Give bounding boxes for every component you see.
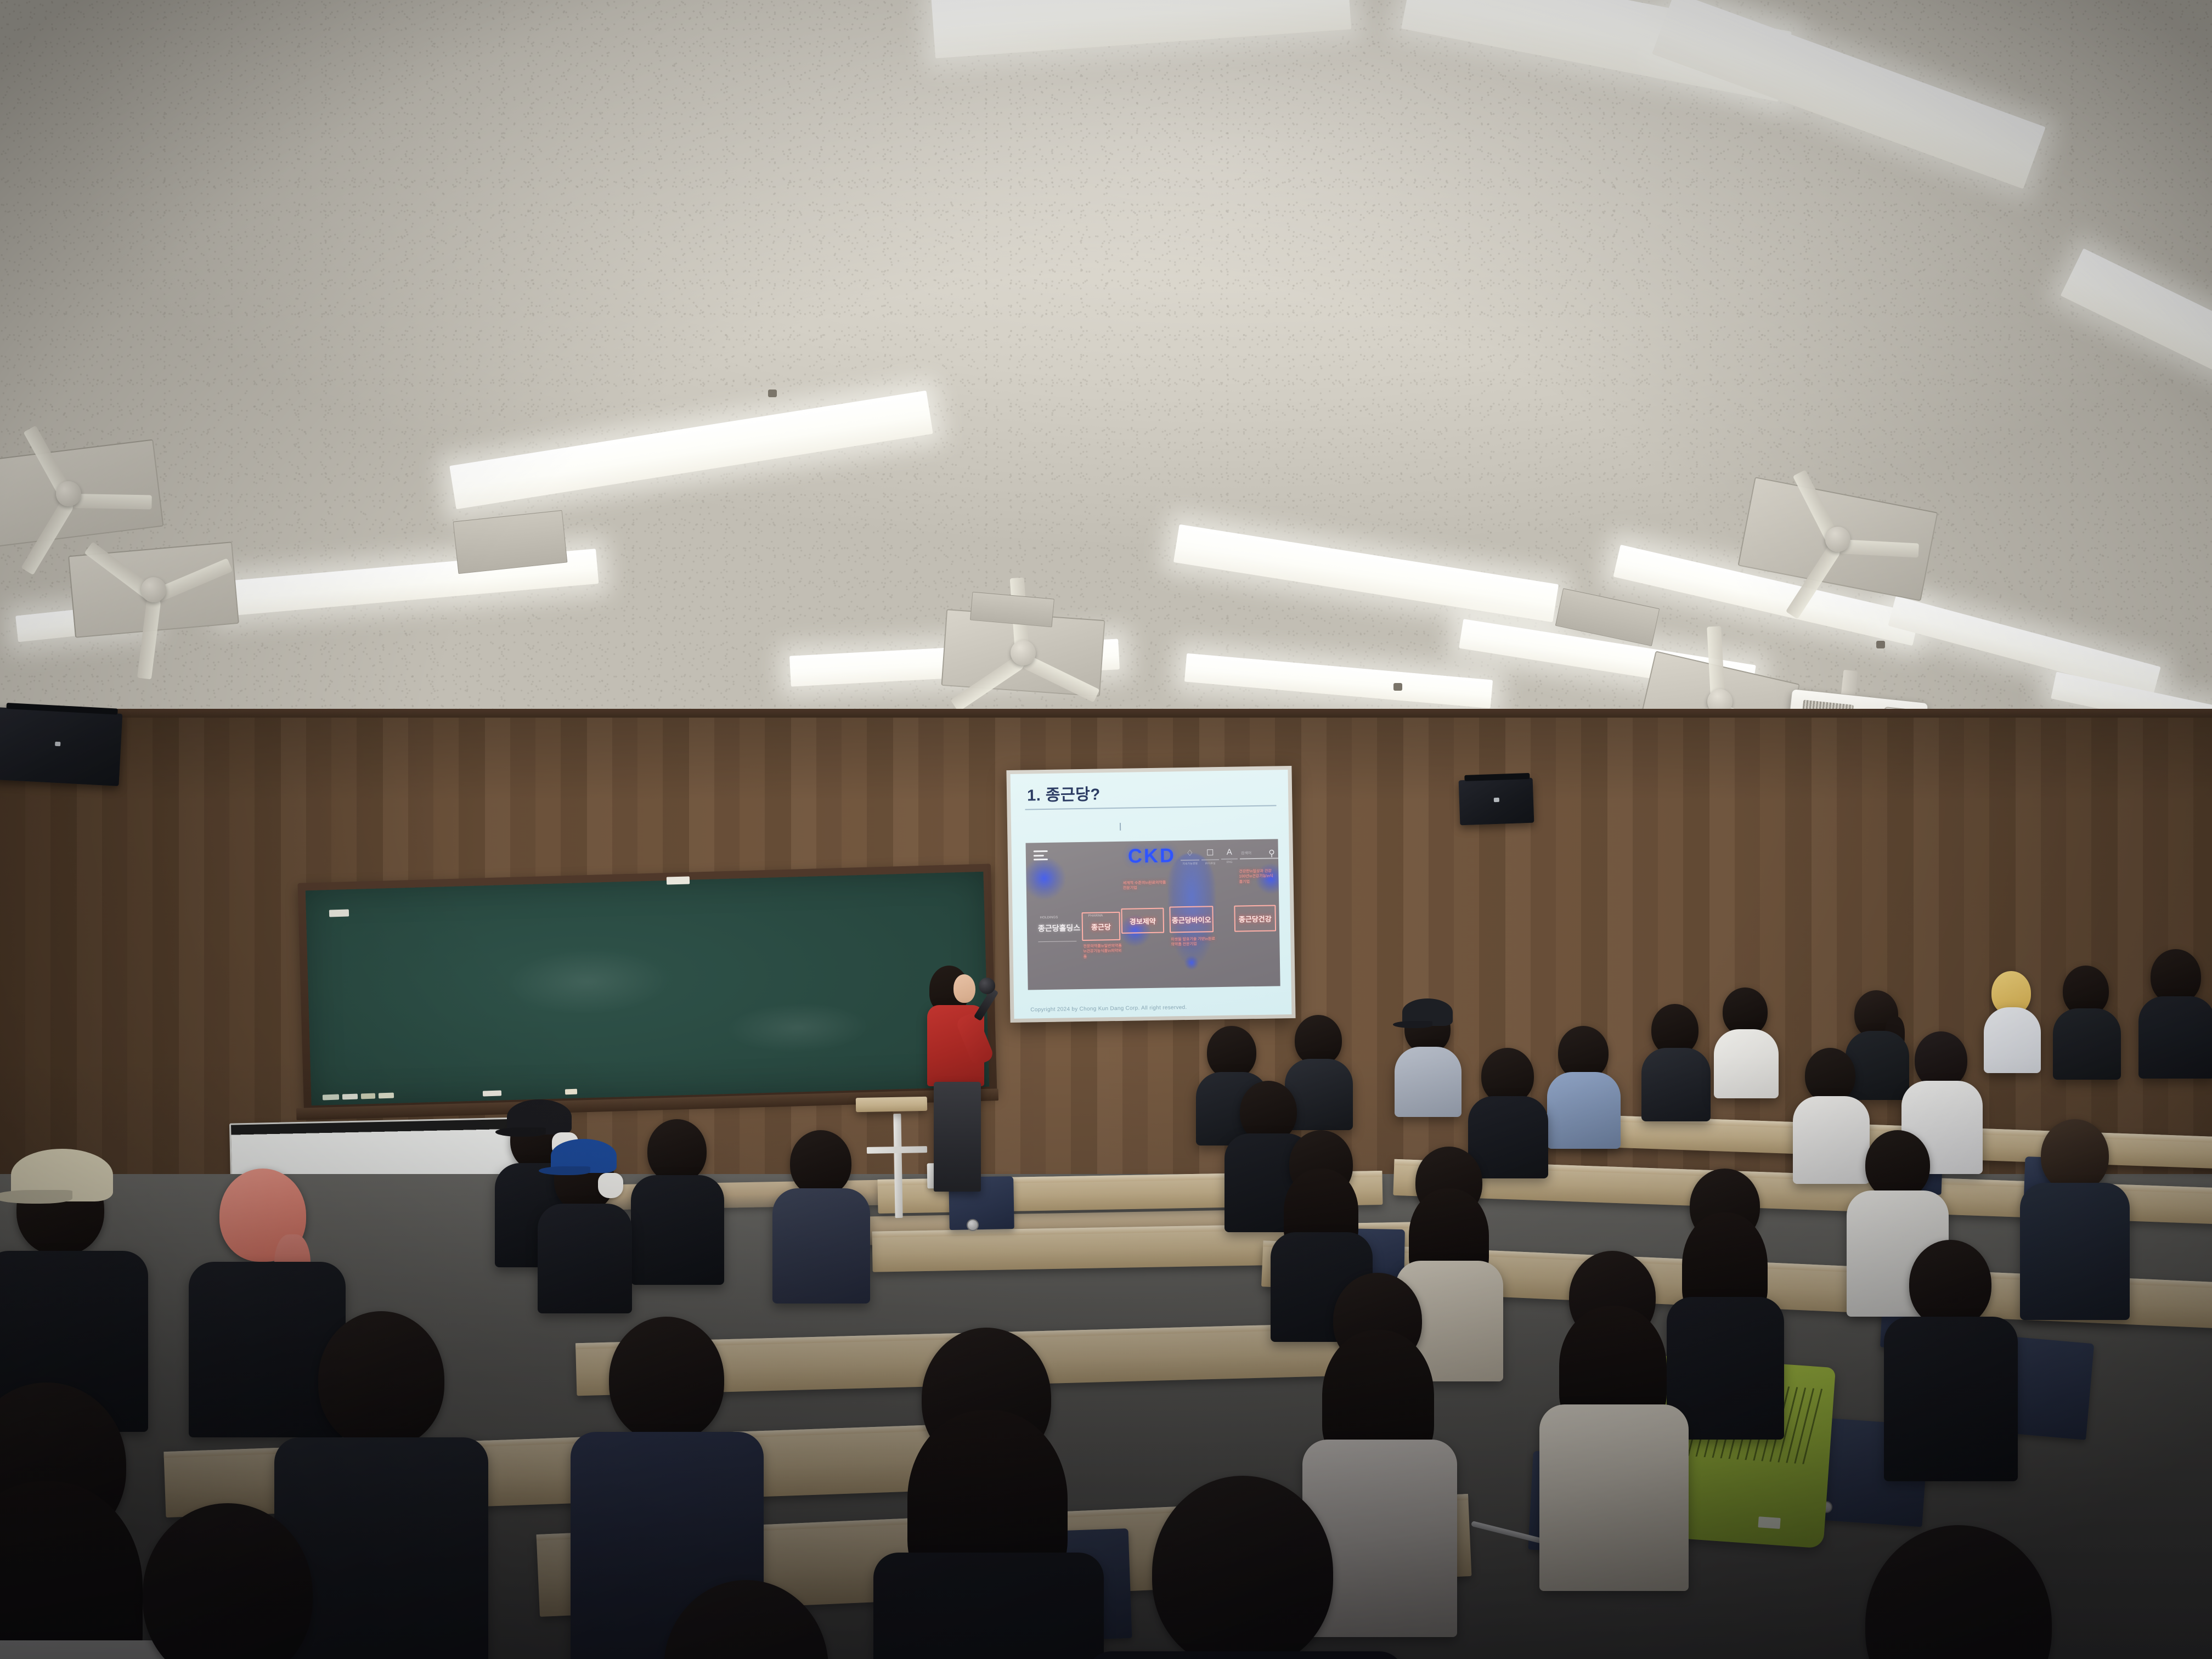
head [790, 1130, 851, 1196]
wall-top-trim [0, 709, 2212, 718]
brand-en-label: HOLDINGS [1040, 916, 1058, 920]
torso [873, 1553, 1104, 1659]
slide-tick-mark [1120, 823, 1121, 831]
hamburger-icon[interactable] [1034, 850, 1048, 860]
wall-speaker-left [0, 707, 122, 786]
glow-orb [1026, 856, 1066, 900]
speaker-indicator-icon [55, 741, 60, 746]
cap-brim [539, 1166, 590, 1175]
sprinkler-head [1876, 641, 1885, 648]
brand-name: 종근당건강 [1239, 913, 1272, 924]
brand-note: 미생물 발효기술 기반\n원료의약품 전문기업 [1171, 936, 1217, 947]
brand-name: 종근당 [1091, 921, 1111, 932]
head [2151, 949, 2201, 1004]
projection-screen: 1. 종근당? CKD ♢ 지속가능경영 ☐ [1006, 766, 1295, 1023]
torso [1395, 1047, 1462, 1117]
cap [551, 1139, 617, 1173]
slide: 1. 종근당? CKD ♢ 지속가능경영 ☐ [1011, 770, 1292, 1019]
chalkboard [306, 872, 989, 1105]
embedded-website-screenshot: CKD ♢ 지속가능경영 ☐ IR자료실 A ENG 검색어 ⚲ HOLDING… [1026, 839, 1280, 990]
brand-card-pharma[interactable]: 종근당 [1082, 912, 1121, 941]
chalk-piece [361, 1093, 375, 1099]
brand-underline [1038, 941, 1076, 942]
head [1481, 1048, 1534, 1104]
chalk-piece [342, 1094, 358, 1100]
cap-brim [1393, 1021, 1432, 1028]
torso [1846, 1031, 1909, 1100]
chalkboard-frame [297, 864, 997, 1113]
torso [0, 1640, 176, 1659]
cap-brim [495, 1127, 546, 1137]
chalk-piece [483, 1090, 501, 1096]
nav-item-label: ENG [1221, 861, 1238, 864]
sprinkler-head [1393, 683, 1402, 691]
sprinkler-head [768, 390, 777, 397]
wall-speaker-right [1459, 778, 1534, 826]
chair-label [1758, 1516, 1780, 1529]
head [1723, 988, 1768, 1036]
brand-name: 종근당바이오 [1172, 914, 1211, 925]
drop-icon: ♢ [1186, 849, 1194, 858]
side-table [856, 1097, 927, 1112]
head [1865, 1130, 1930, 1199]
presenter-skirt [934, 1082, 981, 1192]
torso [1468, 1096, 1548, 1178]
brand-name: 경보제약 [1130, 915, 1156, 926]
chalk-piece [323, 1094, 339, 1100]
torso [1984, 1007, 2041, 1073]
microphone-head [979, 978, 995, 994]
cap-brim [0, 1190, 72, 1204]
fan-blade [69, 494, 151, 510]
chalk-eraser [329, 910, 349, 917]
brand-card-health[interactable]: 종근당건강 [1234, 905, 1276, 932]
search-icon[interactable]: ⚲ [1268, 848, 1275, 859]
torso [1086, 1651, 1404, 1659]
chalk-smudge [505, 946, 671, 1017]
head [609, 1317, 724, 1442]
brand-note: 세계적 수준의\n원료의약품 전문기업 [1123, 880, 1170, 891]
torso [1547, 1072, 1621, 1149]
cap [507, 1099, 572, 1135]
brand-note: 전문의약품\n일반의약품\n건강기능식품\n의약외품 [1083, 944, 1122, 960]
chalk-eraser [667, 876, 690, 884]
doc-icon: ☐ [1206, 848, 1214, 857]
slide-footer: Copyright 2024 by Chong Kun Dang Corp. A… [1030, 1005, 1187, 1013]
nav-item-label: 지속가능경영 [1181, 862, 1199, 866]
ceiling-ac-unit [68, 541, 239, 638]
search-input[interactable]: 검색어 [1241, 850, 1251, 856]
torso [1793, 1096, 1870, 1184]
head [1805, 1048, 1855, 1103]
projector-mount [1841, 670, 1858, 697]
cap [11, 1149, 113, 1201]
head [318, 1311, 444, 1448]
torso [1884, 1317, 2018, 1481]
torso [1539, 1404, 1689, 1591]
torso [189, 1262, 346, 1437]
brand-card-bio[interactable]: 종근당바이오 [1169, 906, 1214, 933]
nav-item-ir[interactable]: ☐ IR자료실 [1201, 848, 1219, 865]
seat-pivot-knob [967, 1219, 979, 1231]
font-icon: A [1227, 848, 1232, 857]
speaker-indicator-icon [1493, 798, 1499, 802]
head [1152, 1476, 1333, 1659]
brand-card-kyungbo[interactable]: 경보제약 [1121, 908, 1164, 934]
nav-item-eng[interactable]: A ENG [1221, 848, 1238, 864]
torso [2053, 1008, 2121, 1080]
brand-note: 건강한\n일상과 건강 100년\n건강기능\n식품기업 [1239, 869, 1273, 885]
torso [2138, 996, 2212, 1079]
torso [631, 1175, 724, 1285]
torso [1714, 1029, 1779, 1098]
slide-title: 1. 종근당? [1027, 781, 1101, 805]
ckd-logo: CKD [1128, 844, 1176, 867]
lecture-hall-photo: 1. 종근당? CKD ♢ 지속가능경영 ☐ [0, 0, 2212, 1659]
head [1915, 1031, 1967, 1088]
presenter-face [953, 974, 975, 1003]
head [1207, 1026, 1256, 1079]
head [1295, 1015, 1342, 1065]
torso [1641, 1048, 1711, 1121]
table-stand-leg [867, 1146, 927, 1154]
torso [772, 1188, 870, 1304]
torso [538, 1204, 632, 1313]
nav-item-label: IR자료실 [1201, 861, 1219, 866]
face-mask [598, 1173, 623, 1198]
slide-divider [1025, 805, 1277, 810]
chalk-piece [379, 1093, 394, 1099]
cap [1402, 998, 1453, 1026]
chalk-smudge [726, 1001, 870, 1054]
head [647, 1119, 707, 1183]
head [1909, 1240, 1991, 1328]
chalk-piece [565, 1089, 577, 1095]
head [2041, 1119, 2109, 1192]
nav-item-sustainability[interactable]: ♢ 지속가능경영 [1181, 848, 1199, 866]
torso [2020, 1183, 2130, 1320]
ceiling [0, 0, 2212, 779]
brand-name[interactable]: 종근당홀딩스 [1038, 922, 1081, 934]
